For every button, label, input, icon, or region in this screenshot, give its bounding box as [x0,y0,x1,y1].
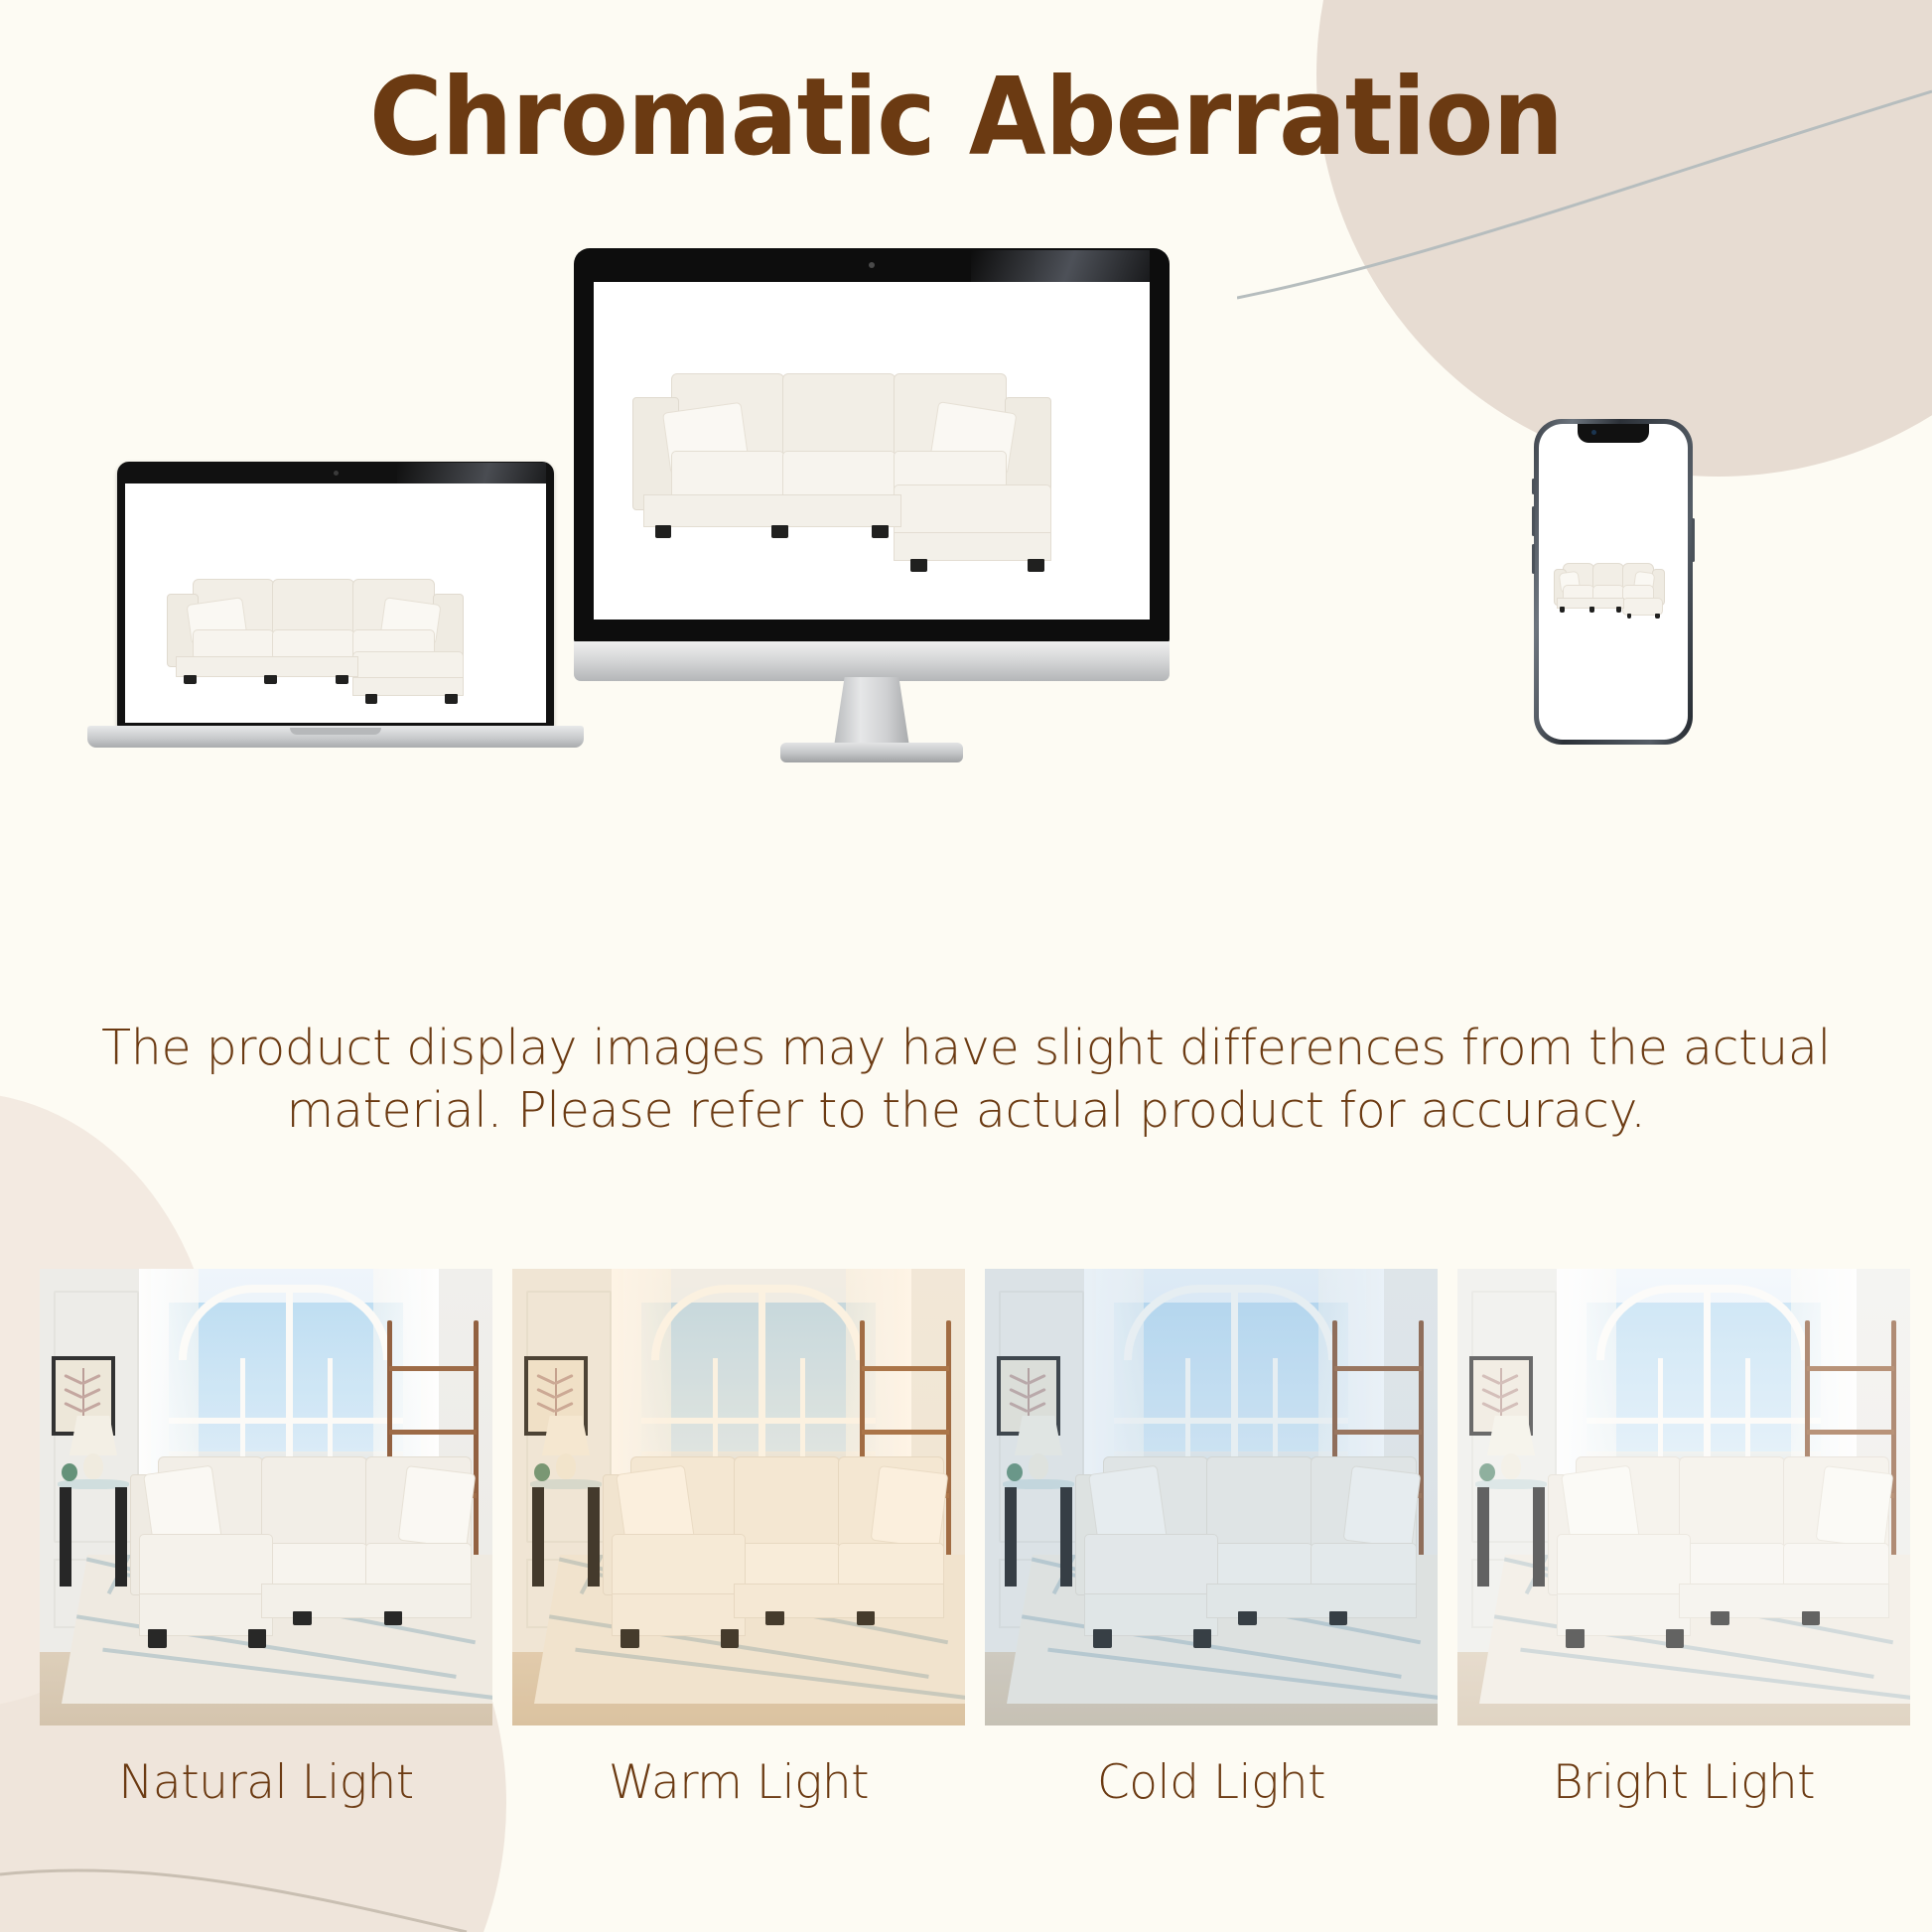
sofa-illustration-laptop [125,483,546,723]
laptop-base-notch [290,728,381,735]
monitor-mockup [574,248,1170,764]
room-photo [985,1269,1438,1725]
room-photo [1457,1269,1910,1725]
gallery-item-label: Cold Light [985,1755,1438,1810]
laptop-screen [125,483,546,723]
phone-front-camera-icon [1591,430,1596,435]
monitor-stand-base [780,743,963,762]
phone-notch [1578,424,1649,443]
phone-screen [1539,424,1688,740]
phone-silent-switch[interactable] [1532,479,1535,494]
gallery-item-bright-light[interactable]: Bright Light [1457,1269,1910,1725]
disclaimer-line-2: material. Please refer to the actual pro… [92,1080,1840,1143]
gallery-item-label: Bright Light [1457,1755,1910,1810]
page-title: Chromatic Aberration [68,56,1864,180]
sofa-illustration-monitor [594,282,1150,620]
gallery-item-label: Natural Light [40,1755,492,1810]
monitor-screen [594,282,1150,620]
phone-frame [1534,419,1693,745]
gallery-item-warm-light[interactable]: Warm Light [512,1269,965,1725]
phone-volume-up-button[interactable] [1532,506,1535,536]
phone-power-button[interactable] [1692,518,1695,562]
sofa-illustration-phone [1539,424,1688,740]
room-sofa [40,1269,492,1725]
laptop-lid [117,462,554,728]
monitor-chin [574,641,1170,681]
laptop-screen-glare [397,463,546,484]
monitor-camera-icon [869,262,875,268]
monitor-bezel [574,248,1170,643]
phone-mockup [1534,419,1693,745]
device-mockup-band [0,248,1932,804]
room-photo [512,1269,965,1725]
room-sofa [1457,1269,1910,1725]
disclaimer-text: The product display images may have slig… [92,1018,1840,1142]
gallery-item-cold-light[interactable]: Cold Light [985,1269,1438,1725]
gallery-item-label: Warm Light [512,1755,965,1810]
room-photo [40,1269,492,1725]
laptop-mockup [87,462,584,759]
infographic-canvas: Chromatic Aberration [0,0,1932,1932]
room-sofa [985,1269,1438,1725]
room-sofa [512,1269,965,1725]
disclaimer-line-1: The product display images may have slig… [92,1018,1840,1080]
lighting-comparison-gallery: Natural Light [40,1269,1892,1725]
monitor-stand-neck [834,677,909,747]
monitor-screen-glare [971,250,1150,282]
gallery-item-natural-light[interactable]: Natural Light [40,1269,492,1725]
laptop-camera-icon [334,471,339,476]
phone-volume-down-button[interactable] [1532,544,1535,574]
